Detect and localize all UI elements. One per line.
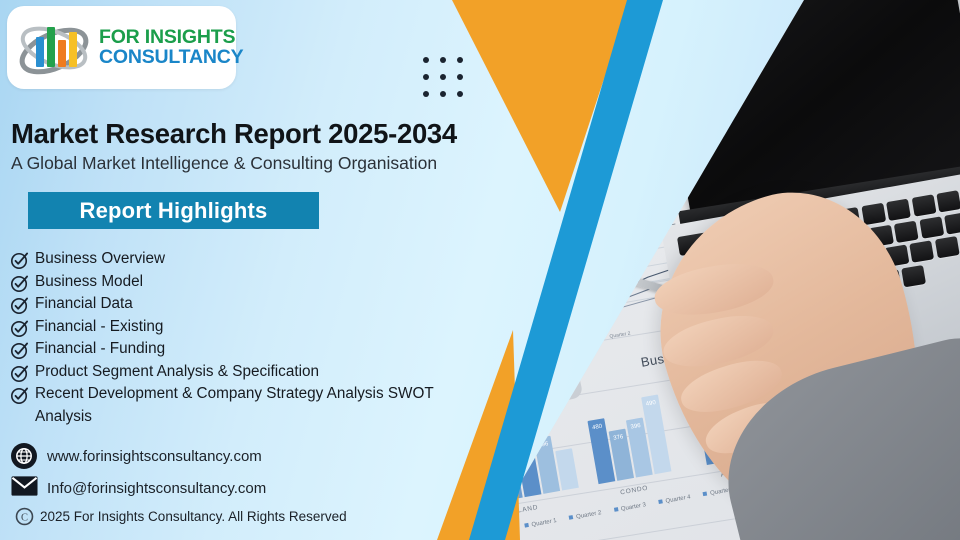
highlights-checklist: Business Overview Business Model Financi… — [10, 250, 510, 426]
website-text: www.forinsightsconsultancy.com — [47, 448, 262, 465]
report-highlights-label: Report Highlights — [80, 198, 268, 224]
logo-line-1: FOR INSIGHTS — [99, 28, 243, 48]
headline-block: Market Research Report 2025-2034 A Globa… — [11, 118, 457, 174]
business-cat-1: CONDO — [620, 485, 649, 497]
report-banner: 5 3 2 6 5 APARTMENT 8 9 8 4 8 HOUSE ANNU… — [0, 0, 960, 540]
check-circle-icon — [10, 274, 29, 293]
copyright-text: 2025 For Insights Consultancy. All Right… — [40, 509, 347, 524]
report-highlights-badge: Report Highlights — [28, 192, 319, 229]
bar-chart-swoosh-logo-icon — [15, 15, 93, 81]
list-item: Business Overview — [10, 250, 510, 270]
globe-icon — [11, 443, 37, 469]
copyright-icon: C — [15, 507, 34, 526]
list-item: Financial Data — [10, 295, 510, 315]
envelope-icon — [11, 475, 37, 501]
email-text: Info@forinsightsconsultancy.com — [47, 480, 266, 497]
check-circle-icon — [10, 319, 29, 338]
copyright-row: C 2025 For Insights Consultancy. All Rig… — [15, 507, 347, 526]
check-circle-icon — [10, 364, 29, 383]
business-cat-0: LAND — [517, 504, 538, 514]
list-item: Financial - Funding — [10, 340, 510, 360]
list-item-label: Recent Development & Company Strategy An… — [35, 385, 434, 402]
svg-text:C: C — [21, 512, 28, 523]
footer-contact: www.forinsightsconsultancy.com Info@fori… — [11, 443, 347, 526]
check-circle-icon — [10, 386, 29, 405]
email-row[interactable]: Info@forinsightsconsultancy.com — [11, 475, 347, 501]
list-item-label: Product Segment Analysis & Specification — [35, 363, 319, 380]
website-row[interactable]: www.forinsightsconsultancy.com — [11, 443, 347, 469]
logo-line-2: CONSULTANCY — [99, 48, 243, 68]
check-circle-icon — [10, 341, 29, 360]
list-item-label: Financial Data — [35, 295, 133, 312]
list-item-label: Financial - Funding — [35, 340, 165, 357]
check-circle-icon — [10, 251, 29, 270]
list-item: Product Segment Analysis & Specification — [10, 363, 510, 383]
page-title: Market Research Report 2025-2034 — [11, 118, 457, 150]
check-circle-icon — [10, 296, 29, 315]
list-item-label-continuation: Analysis — [35, 408, 510, 426]
list-item: Business Model — [10, 273, 510, 293]
page-subtitle: A Global Market Intelligence & Consultin… — [11, 153, 457, 174]
list-item-label: Financial - Existing — [35, 318, 163, 335]
company-logo[interactable]: FOR INSIGHTS CONSULTANCY — [7, 6, 236, 89]
list-item-label: Business Model — [35, 273, 143, 290]
list-item: Financial - Existing — [10, 318, 510, 338]
list-item: Recent Development & Company Strategy An… — [10, 385, 510, 405]
list-item-label: Business Overview — [35, 250, 165, 267]
dot-grid-decoration — [423, 57, 465, 99]
